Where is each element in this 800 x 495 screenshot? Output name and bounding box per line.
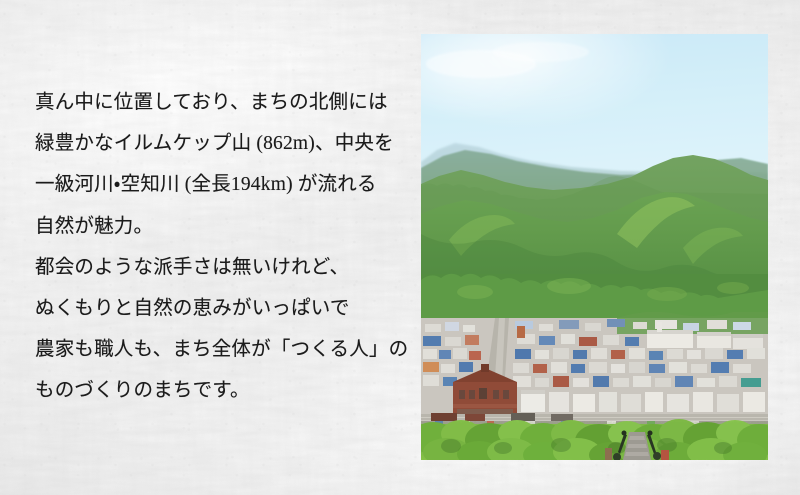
text-line: 農家も職人も、まち全体が「つくる人」の	[35, 329, 405, 370]
text-line: 緑豊かなイルムケップ山 (862m)、中央を	[35, 123, 405, 164]
text-line: 自然が魅力。	[35, 206, 405, 247]
text-line: 真ん中に位置しており、まちの北側には	[35, 82, 405, 123]
text-line: 都会のような派手さは無いけれど、	[35, 247, 405, 288]
text-line: ぬくもりと自然の恵みがいっぱいで	[35, 288, 405, 329]
description-text-block: 真ん中に位置しており、まちの北側には 緑豊かなイルムケップ山 (862m)、中央…	[35, 82, 405, 412]
town-landscape-photo	[421, 34, 768, 460]
page-root: 真ん中に位置しており、まちの北側には 緑豊かなイルムケップ山 (862m)、中央…	[0, 0, 800, 495]
text-line: 一級河川・空知川 (全長194km) が流れる	[35, 164, 405, 205]
text-line: ものづくりのまちです。	[35, 370, 405, 411]
